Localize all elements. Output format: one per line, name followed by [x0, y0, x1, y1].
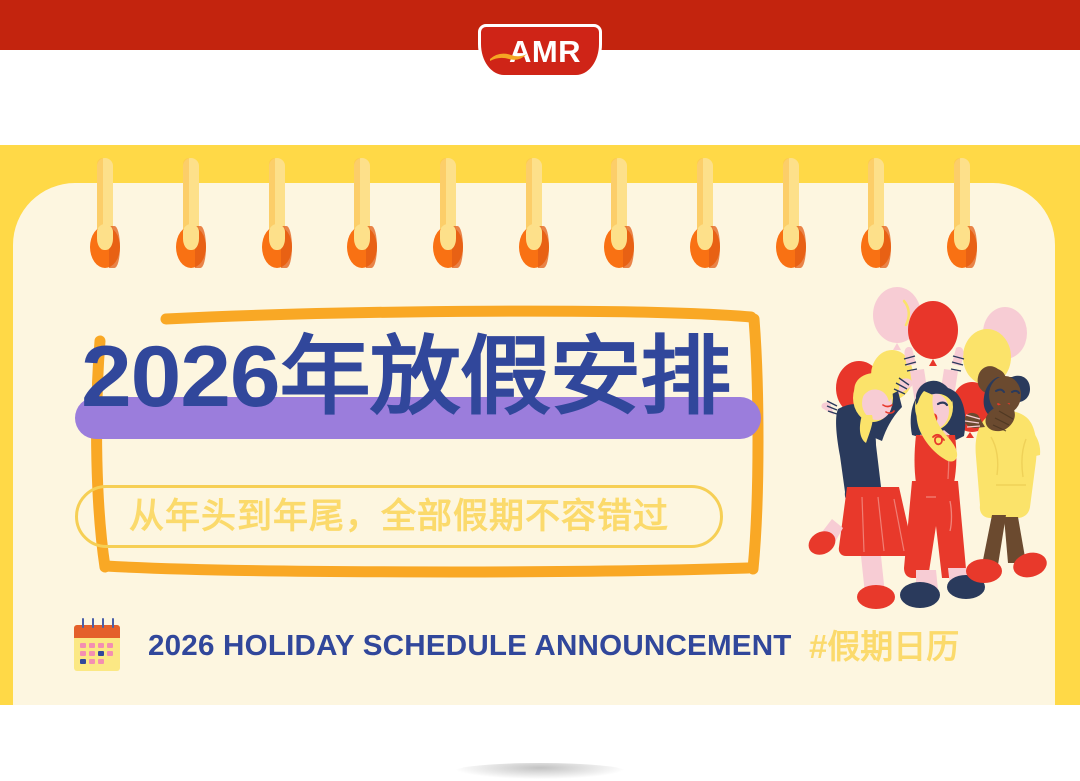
celebration-illustration [800, 285, 1070, 615]
spiral-ring [351, 158, 373, 268]
spiral-ring [608, 158, 630, 268]
footer-english-title: 2026 HOLIDAY SCHEDULE ANNOUNCEMENT [148, 632, 792, 661]
page-title: 2026年放假安排 [81, 325, 730, 429]
amr-logo[interactable]: AMR [478, 24, 602, 78]
spiral-ring [266, 158, 288, 268]
footer-line: 2026 HOLIDAY SCHEDULE ANNOUNCEMENT #假期日历 [66, 615, 959, 677]
swoosh-icon [489, 50, 529, 63]
subtitle-pill: 从年头到年尾，全部假期不容错过 [75, 485, 723, 548]
calendar-spiral-rings [0, 145, 1080, 275]
spiral-ring [694, 158, 716, 268]
spiral-ring [951, 158, 973, 268]
page-bottom-shadow [455, 763, 625, 779]
spiral-ring [437, 158, 459, 268]
spiral-ring [780, 158, 802, 268]
holiday-banner: 2026年放假安排 从年头到年尾，全部假期不容错过 [0, 145, 1080, 705]
spiral-ring [523, 158, 545, 268]
footer-hashtag: #假期日历 [809, 630, 959, 663]
spiral-ring [94, 158, 116, 268]
spiral-ring [865, 158, 887, 268]
spiral-ring [180, 158, 202, 268]
calendar-icon [66, 615, 128, 677]
hero-title-block: 2026年放假安排 [75, 325, 765, 440]
subtitle-text: 从年头到年尾，全部假期不容错过 [129, 499, 669, 534]
person-left [804, 373, 913, 609]
balloon-red-top [908, 301, 958, 366]
